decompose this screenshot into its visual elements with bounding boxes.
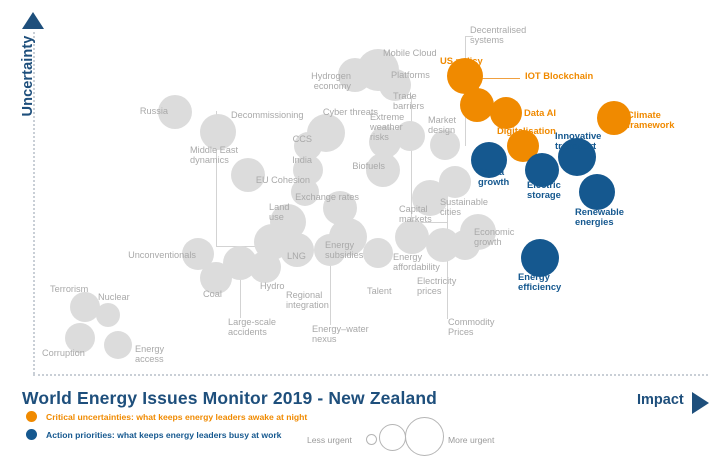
bubble-label: Economic growth (474, 228, 524, 248)
bubble-label: EU Cohesion (248, 176, 310, 186)
legend-dot-action (26, 429, 37, 440)
size-scale-more-label: More urgent (448, 435, 494, 445)
x-axis-line (33, 374, 708, 376)
issues-monitor-chart: Uncertainty Impact RussiaMiddle East dyn… (0, 0, 720, 447)
bubble-label: Middle East dynamics (190, 146, 260, 166)
bubble-label: Terrorism (50, 285, 104, 295)
bubble-label: Coal (203, 290, 231, 300)
bubble-label: Energy–water nexus (312, 325, 374, 345)
bubble-label: Digitalisation (497, 126, 563, 136)
bubble-label: Regional integration (286, 291, 338, 311)
size-scale-less-label: Less urgent (307, 435, 352, 445)
bubble-label: Capital markets (399, 205, 445, 225)
bubble-label: Market design (428, 116, 470, 136)
bubble-label: Innovative transport (555, 131, 611, 151)
bubble-label: Biofuels (341, 162, 385, 172)
bubble-label: Climate framework (627, 110, 685, 130)
bubble-label: Talent (367, 287, 403, 297)
y-axis-label: Uncertainty (20, 21, 36, 131)
legend-label-critical: Critical uncertainties: what keeps energ… (46, 412, 307, 422)
bubble-label: Electricity prices (417, 277, 469, 297)
bubble-label: Trade barriers (393, 92, 435, 112)
bubble-renewable-energies[interactable] (579, 174, 615, 210)
bubble-label: US policy (440, 56, 496, 66)
bubble-label: Nuclear (98, 293, 142, 303)
triangle-right-icon (692, 392, 709, 414)
bubble-sustainable-cities[interactable] (439, 166, 471, 198)
bubble-label: Energy affordability (393, 253, 455, 273)
bubble-climate-framework[interactable] (597, 101, 631, 135)
bubble-label: Mobile Cloud (383, 49, 448, 59)
bubble-label: LNG (287, 252, 315, 262)
bubble-label: Decommissioning (231, 111, 321, 121)
bubble-label: Decentralised systems (470, 26, 536, 46)
page-title: World Energy Issues Monitor 2019 - New Z… (22, 388, 437, 409)
legend-dot-critical (26, 411, 37, 422)
leader-line (478, 78, 520, 79)
bubble-label: Extreme weather risks (370, 113, 416, 143)
bubble-energy-access[interactable] (104, 331, 132, 359)
size-ring-small (366, 434, 377, 445)
bubble-label: Electric storage (527, 180, 569, 200)
bubble-large-scale-accidents[interactable] (223, 246, 257, 280)
bubble-label: Data AI (524, 108, 566, 118)
bubble-energy-affordability[interactable] (395, 220, 429, 254)
bubble-nuclear[interactable] (96, 303, 120, 327)
bubble-label: Large-scale accidents (228, 318, 286, 338)
bubble-label: Corruption (42, 349, 100, 359)
bubble-label: Sustainable cities (440, 198, 500, 218)
bubble-label: Cyber threats (310, 108, 378, 118)
bubble-label: Exchange rates (283, 193, 359, 203)
bubble-label: Renewable energies (575, 207, 633, 227)
bubble-label: Hydrogen economy (293, 72, 351, 92)
bubble-label: Energy access (135, 345, 173, 365)
bubble-label: Platforms (391, 71, 443, 81)
size-ring-large (405, 417, 444, 456)
bubble-label: Energy efficiency (518, 272, 574, 292)
bubble-label: CCS (286, 135, 312, 145)
bubble-label: IOT Blockchain (525, 71, 601, 81)
bubble-label: China growth (478, 167, 518, 187)
legend-label-action: Action priorities: what keeps energy lea… (46, 430, 281, 440)
bubble-label: Energy subsidies (325, 241, 377, 261)
bubble-label: Russia (113, 107, 168, 117)
bubble-label: Unconventionals (116, 251, 196, 261)
bubble-label: India (282, 156, 312, 166)
bubble-label: Land use (269, 203, 301, 223)
bubble-label: Commodity Prices (448, 318, 506, 338)
x-axis-label: Impact (637, 392, 684, 408)
